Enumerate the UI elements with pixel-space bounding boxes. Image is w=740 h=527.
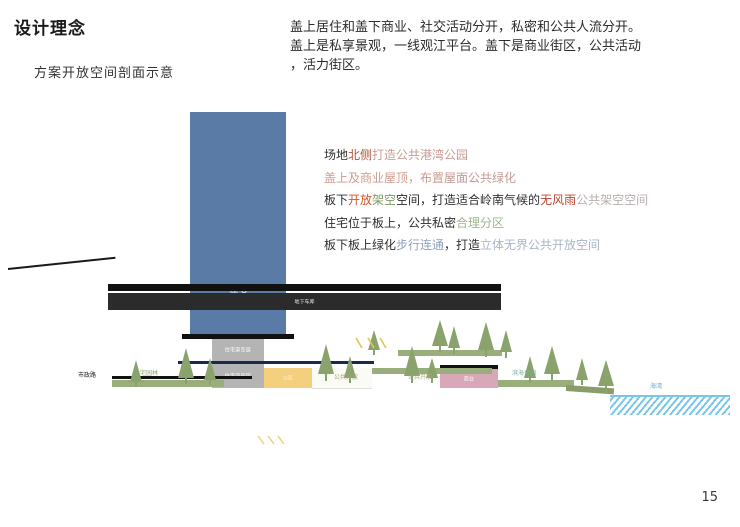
underground-garage-label: 地下车库 [108,298,501,305]
tree-icon [204,358,216,380]
municipal-road-line [8,257,116,270]
intro-line-1: 盖上居住和盖下商业、社交活动分开，私密和公共人流分开。 [290,18,732,37]
page-title: 设计理念 [14,14,86,39]
site-label-public-open-1: 公共开放 [334,372,358,381]
intro-line-2: 盖上是私享景观，一线观江平台。盖下是商业街区，公共活动 [290,37,732,56]
intro-paragraph: 盖上居住和盖下商业、社交活动分开，私密和公共人流分开。 盖上是私享景观，一线观江… [290,18,732,75]
intro-line-3: ，活力街区。 [290,56,732,75]
site-label-greenery: 绿化 [434,338,446,347]
section-diagram: 住宅 塔楼 住宅架空层 住宅架空层 公区 商业 [0,100,740,430]
water-label: 海湾 [650,381,662,390]
site-label-public-open-2: 公共开放 [408,372,432,381]
tree-icon [318,344,334,374]
tree-icon [500,330,512,352]
site-label-municipal-road: 市政路 [78,370,96,379]
underground-garage: 地下车库 [108,293,501,310]
tree-icon [448,326,460,348]
climate-arrows-icon [352,336,412,358]
tree-icon [544,346,560,374]
bay-water [610,395,730,415]
site-label-residential-garden: 住宅园林 [134,368,158,377]
page-subtitle: 方案开放空间剖面示意 [34,62,174,81]
tree-icon [178,348,194,378]
page-number: 15 [701,490,718,505]
tree-icon [478,322,494,350]
garage-top-slab [108,284,501,291]
site-label-coastal-park: 滨海公园 [512,368,536,377]
tree-icon [576,358,588,380]
slide-root: 设计理念 方案开放空间剖面示意 盖上居住和盖下商业、社交活动分开，私密和公共人流… [0,0,740,527]
rain-indicator-icon [258,436,284,444]
tree-icon [598,360,614,386]
